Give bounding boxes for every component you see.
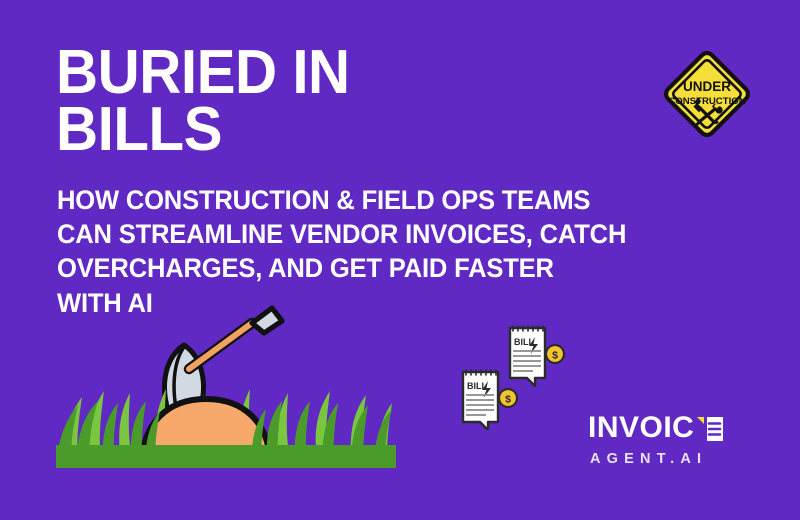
- under-construction-sign: UNDER CONSTRUCTION: [659, 46, 755, 142]
- invoice-e-document-icon: [695, 414, 725, 444]
- bill-document-icon: BILL $: [510, 326, 564, 386]
- page-title: BURIED IN BILLS: [56, 44, 582, 158]
- page-subtitle: HOW CONSTRUCTION & FIELD OPS TEAMS CAN S…: [57, 183, 738, 320]
- under-construction-sign-icon: UNDER CONSTRUCTION: [659, 46, 755, 142]
- coin-symbol: $: [505, 394, 511, 406]
- poster-canvas: BURIED IN BILLS HOW CONSTRUCTION & FIELD…: [0, 0, 800, 520]
- logo-top-row: INVOIC: [588, 412, 744, 444]
- bill-document-icon: BILL $: [463, 370, 517, 430]
- bills-svg: BILL $: [455, 320, 575, 430]
- logo-tagline: AGENT.AI: [590, 451, 744, 467]
- sign-line-1: UNDER: [683, 79, 731, 94]
- coin-symbol: $: [552, 350, 558, 362]
- grass-base-line: [56, 465, 396, 468]
- buried-shovel-in-grass-illustration: [56, 305, 396, 475]
- bill-documents-group: BILL $: [455, 320, 575, 430]
- logo-wordmark: INVOIC: [588, 413, 694, 443]
- scene-svg: [56, 305, 396, 475]
- brand-logo[interactable]: INVOIC AGENT.AI: [588, 412, 744, 470]
- sign-line-2: CONSTRUCTION: [668, 96, 745, 107]
- shovel-icon: [165, 308, 282, 410]
- logo-mark-svg: [695, 414, 725, 444]
